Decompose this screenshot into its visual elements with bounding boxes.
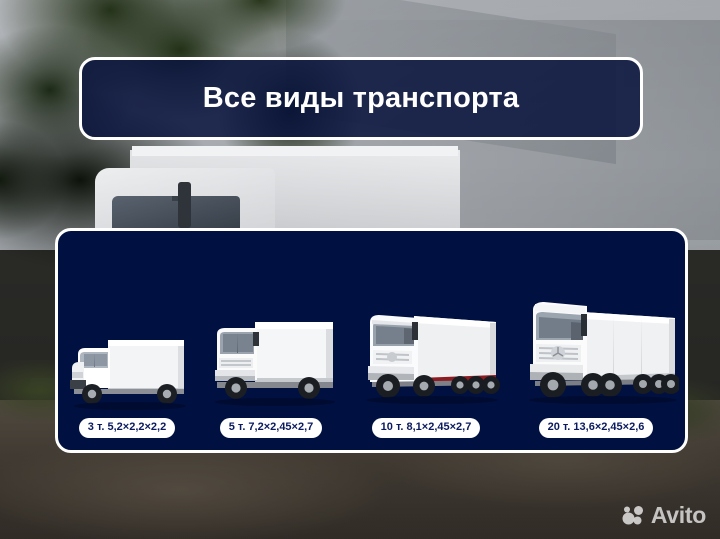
page-title: Все виды транспорта — [203, 82, 520, 115]
title-banner: Все виды транспорта — [79, 57, 643, 140]
capacity-badge: 3 т. 5,2×2,2×2,2 — [79, 418, 175, 438]
actros-semi-trailer-icon — [513, 292, 679, 412]
maz-semi-truck-icon — [352, 300, 500, 412]
capacity-badge: 20 т. 13,6×2,45×2,6 — [539, 418, 654, 438]
avito-dots-icon — [621, 506, 646, 526]
avito-watermark: Avito — [621, 504, 706, 527]
avito-brand-label: Avito — [651, 504, 706, 527]
list-item[interactable]: 20 т. 13,6×2,45×2,6 — [513, 231, 679, 438]
capacity-badge: 5 т. 7,2×2,45×2,7 — [220, 418, 323, 438]
gazelle-box-truck-icon — [64, 320, 190, 412]
list-item[interactable]: 5 т. 7,2×2,45×2,7 — [203, 231, 339, 438]
list-item[interactable]: 10 т. 8,1×2,45×2,7 — [352, 231, 500, 438]
list-item[interactable]: 3 т. 5,2×2,2×2,2 — [64, 231, 190, 438]
transport-types-panel: 3 т. 5,2×2,2×2,2 — [55, 228, 688, 453]
capacity-badge: 10 т. 8,1×2,45×2,7 — [372, 418, 481, 438]
medium-box-truck-icon — [203, 308, 339, 412]
transport-list: 3 т. 5,2×2,2×2,2 — [58, 231, 685, 450]
promo-image: Все виды транспорта — [0, 0, 720, 539]
